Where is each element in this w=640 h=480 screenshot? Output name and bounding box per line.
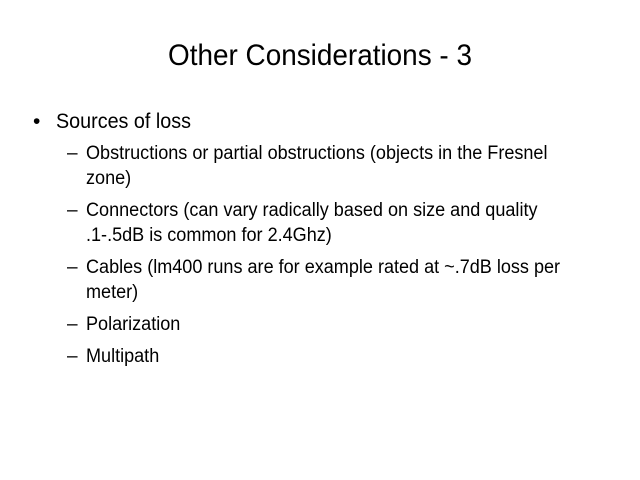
bullet-dash-icon: – [67,198,78,223]
bullet-dash-icon: – [67,344,78,369]
list-item-polarization-label: Polarization [86,312,570,337]
list-item-obstructions-label: Obstructions or partial obstructions (ob… [86,141,570,191]
list-item-obstructions: – Obstructions or partial obstructions (… [0,141,640,191]
list-item-connectors-label: Connectors (can vary radically based on … [86,198,570,248]
list-item-cables-label: Cables (lm400 runs are for example rated… [86,255,570,305]
list-item-cables: – Cables (lm400 runs are for example rat… [0,255,640,305]
list-item-multipath: – Multipath [0,344,640,369]
sub-list: – Obstructions or partial obstructions (… [0,141,640,369]
list-item-level1-label: Sources of loss [56,108,605,135]
list-item-multipath-label: Multipath [86,344,570,369]
list-item-level1: • Sources of loss [0,108,640,135]
bullet-dash-icon: – [67,141,78,166]
slide-title: Other Considerations - 3 [22,37,617,75]
slide-body-list: • Sources of loss – Obstructions or part… [0,108,640,376]
list-item-polarization: – Polarization [0,312,640,337]
slide-canvas: Sources of loss Other Considerations - 3… [0,0,640,480]
bullet-dash-icon: – [67,255,78,280]
list-item-connectors: – Connectors (can vary radically based o… [0,198,640,248]
bullet-dot-icon: • [33,108,40,135]
bullet-dash-icon: – [67,312,78,337]
